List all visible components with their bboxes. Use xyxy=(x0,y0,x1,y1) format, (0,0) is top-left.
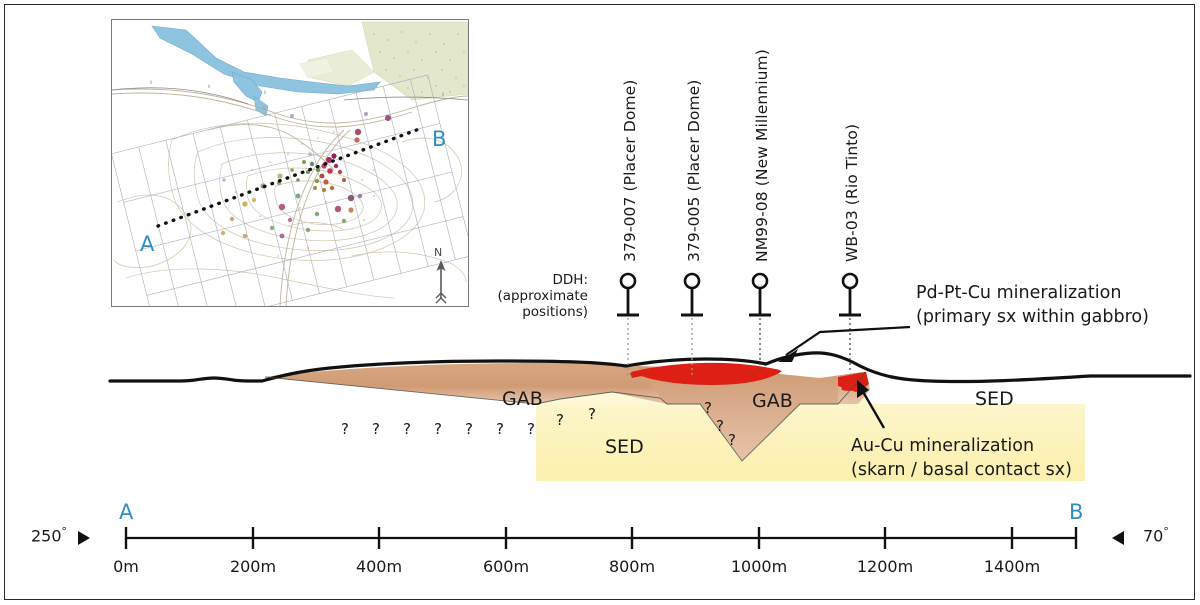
pd-pt-cu-annotation-line1: Pd-Pt-Cu mineralization xyxy=(916,281,1149,305)
uncertainty-marker: ? xyxy=(716,417,724,435)
ddh-label-379-007: 379-007 (Placer Dome) xyxy=(621,80,639,262)
scale-tick-label: 400m xyxy=(356,557,402,576)
ddh-label-nm99-08: NM99-08 (New Millennium) xyxy=(753,49,771,262)
drill-hole-collar-symbols xyxy=(617,274,861,315)
scale-tick-label: 800m xyxy=(609,557,655,576)
scale-bar xyxy=(78,527,1124,549)
pd-pt-cu-annotation: Pd-Pt-Cu mineralization (primary sx with… xyxy=(916,281,1149,329)
collar-symbol xyxy=(681,274,703,315)
ddh-caption: DDH: (approximate positions) xyxy=(478,272,588,320)
au-cu-annotation-line1: Au-Cu mineralization xyxy=(851,434,1072,458)
bearing-left-value: 250 xyxy=(31,526,62,545)
au-cu-annotation: Au-Cu mineralization (skarn / basal cont… xyxy=(851,434,1072,482)
scale-tick-label: 600m xyxy=(483,557,529,576)
uncertainty-marker: ? xyxy=(372,420,380,438)
uncertainty-marker: ? xyxy=(556,411,564,429)
unit-label-gab-right: GAB xyxy=(752,390,793,412)
uncertainty-marker: ? xyxy=(496,420,504,438)
uncertainty-marker: ? xyxy=(403,420,411,438)
scale-label-b: B xyxy=(1069,500,1083,524)
ddh-label-379-005: 379-005 (Placer Dome) xyxy=(685,80,703,262)
degree-symbol-right: ° xyxy=(1163,525,1169,538)
bearing-right-value: 70 xyxy=(1143,526,1163,545)
unit-label-gab-left: GAB xyxy=(502,388,543,410)
bearing-arrow-left xyxy=(78,531,90,545)
pd-pt-cu-leader-arrow xyxy=(778,327,910,362)
pd-pt-cu-annotation-line2: (primary sx within gabbro) xyxy=(916,305,1149,329)
uncertainty-marker: ? xyxy=(704,399,712,417)
scale-tick-label: 200m xyxy=(230,557,276,576)
collar-symbol xyxy=(617,274,639,315)
uncertainty-marker: ? xyxy=(465,420,473,438)
ddh-caption-line1: DDH: xyxy=(478,272,588,288)
scale-tick-label: 1000m xyxy=(731,557,787,576)
figure-canvas: IIIIII II xyxy=(0,0,1200,605)
scale-tick-label: 1200m xyxy=(857,557,913,576)
bearing-right: 70° xyxy=(1143,525,1169,545)
uncertainty-marker: ? xyxy=(434,420,442,438)
uncertainty-marker: ? xyxy=(728,431,736,449)
scale-tick-label: 1400m xyxy=(984,557,1040,576)
uncertainty-marker: ? xyxy=(588,405,596,423)
scale-tick-label: 0m xyxy=(113,557,139,576)
ddh-caption-line2: (approximate xyxy=(478,288,588,304)
bearing-left: 250° xyxy=(31,525,67,545)
unit-label-sed-right: SED xyxy=(975,388,1014,410)
uncertainty-marker: ? xyxy=(341,420,349,438)
unit-label-sed-mid: SED xyxy=(605,436,644,458)
uncertainty-marker: ? xyxy=(527,420,535,438)
degree-symbol-left: ° xyxy=(62,525,68,538)
bearing-arrow-right xyxy=(1112,531,1124,545)
ddh-caption-line3: positions) xyxy=(478,304,588,320)
collar-symbol xyxy=(749,274,771,315)
scale-label-a: A xyxy=(119,500,133,524)
au-cu-annotation-line2: (skarn / basal contact sx) xyxy=(851,458,1072,482)
ddh-label-wb-03: WB-03 (Rio Tinto) xyxy=(843,124,861,262)
collar-symbol xyxy=(839,274,861,315)
